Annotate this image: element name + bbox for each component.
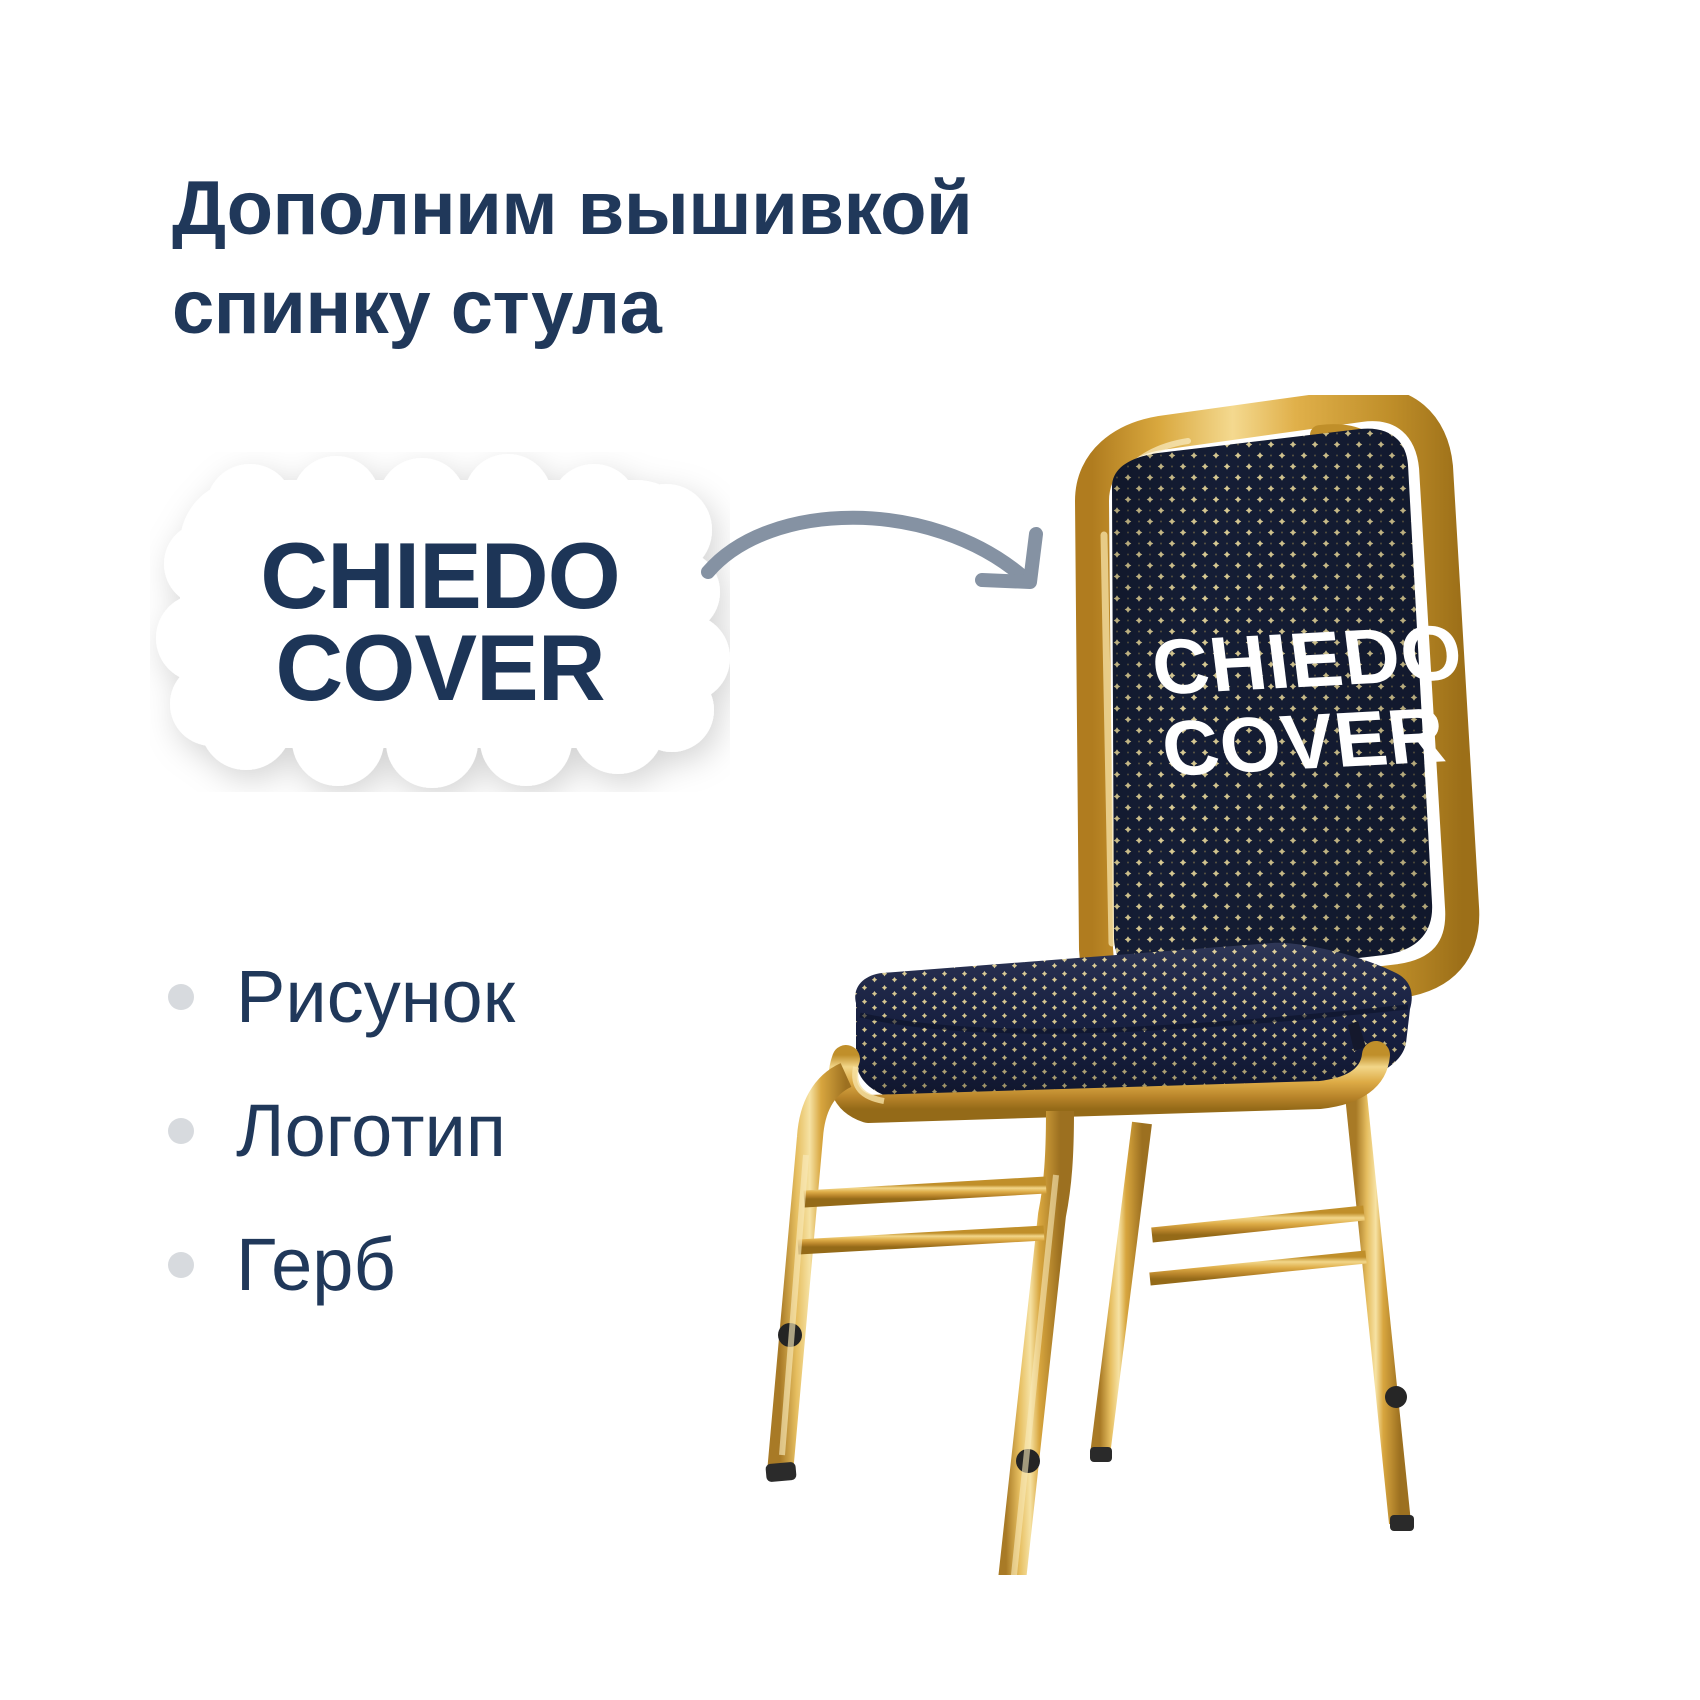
logo-sticker-badge: CHIEDO COVER	[150, 452, 730, 792]
feature-label-2: Логотип	[236, 1094, 506, 1168]
page-title-line-2: спинку стула	[172, 259, 1132, 358]
embroidery-line-cover: COVER	[1157, 691, 1450, 793]
poster-canvas: Дополним вышивкой спинку стула	[0, 0, 1700, 1700]
chair-seat-cushion	[855, 943, 1412, 1101]
feature-list: Рисунок Логотип Герб	[168, 930, 808, 1332]
sticker-shape	[150, 452, 730, 792]
bullet-dot-icon	[168, 984, 194, 1010]
feature-label-3: Герб	[236, 1228, 396, 1302]
list-item: Герб	[168, 1198, 808, 1332]
list-item: Логотип	[168, 1064, 808, 1198]
chair-rear-legs	[1090, 1095, 1414, 1531]
chair-embroidery: CHIEDO COVER	[1147, 608, 1477, 793]
page-title-line-1: Дополним вышивкой	[172, 160, 1132, 259]
bullet-dot-icon	[168, 1252, 194, 1278]
list-item: Рисунок	[168, 930, 808, 1064]
bullet-dot-icon	[168, 1118, 194, 1144]
page-title: Дополним вышивкой спинку стула	[172, 160, 1132, 358]
feature-label-1: Рисунок	[236, 960, 515, 1034]
chair-front-legs	[765, 1075, 1060, 1575]
banquet-chair-photo: CHIEDO COVER	[760, 395, 1520, 1575]
